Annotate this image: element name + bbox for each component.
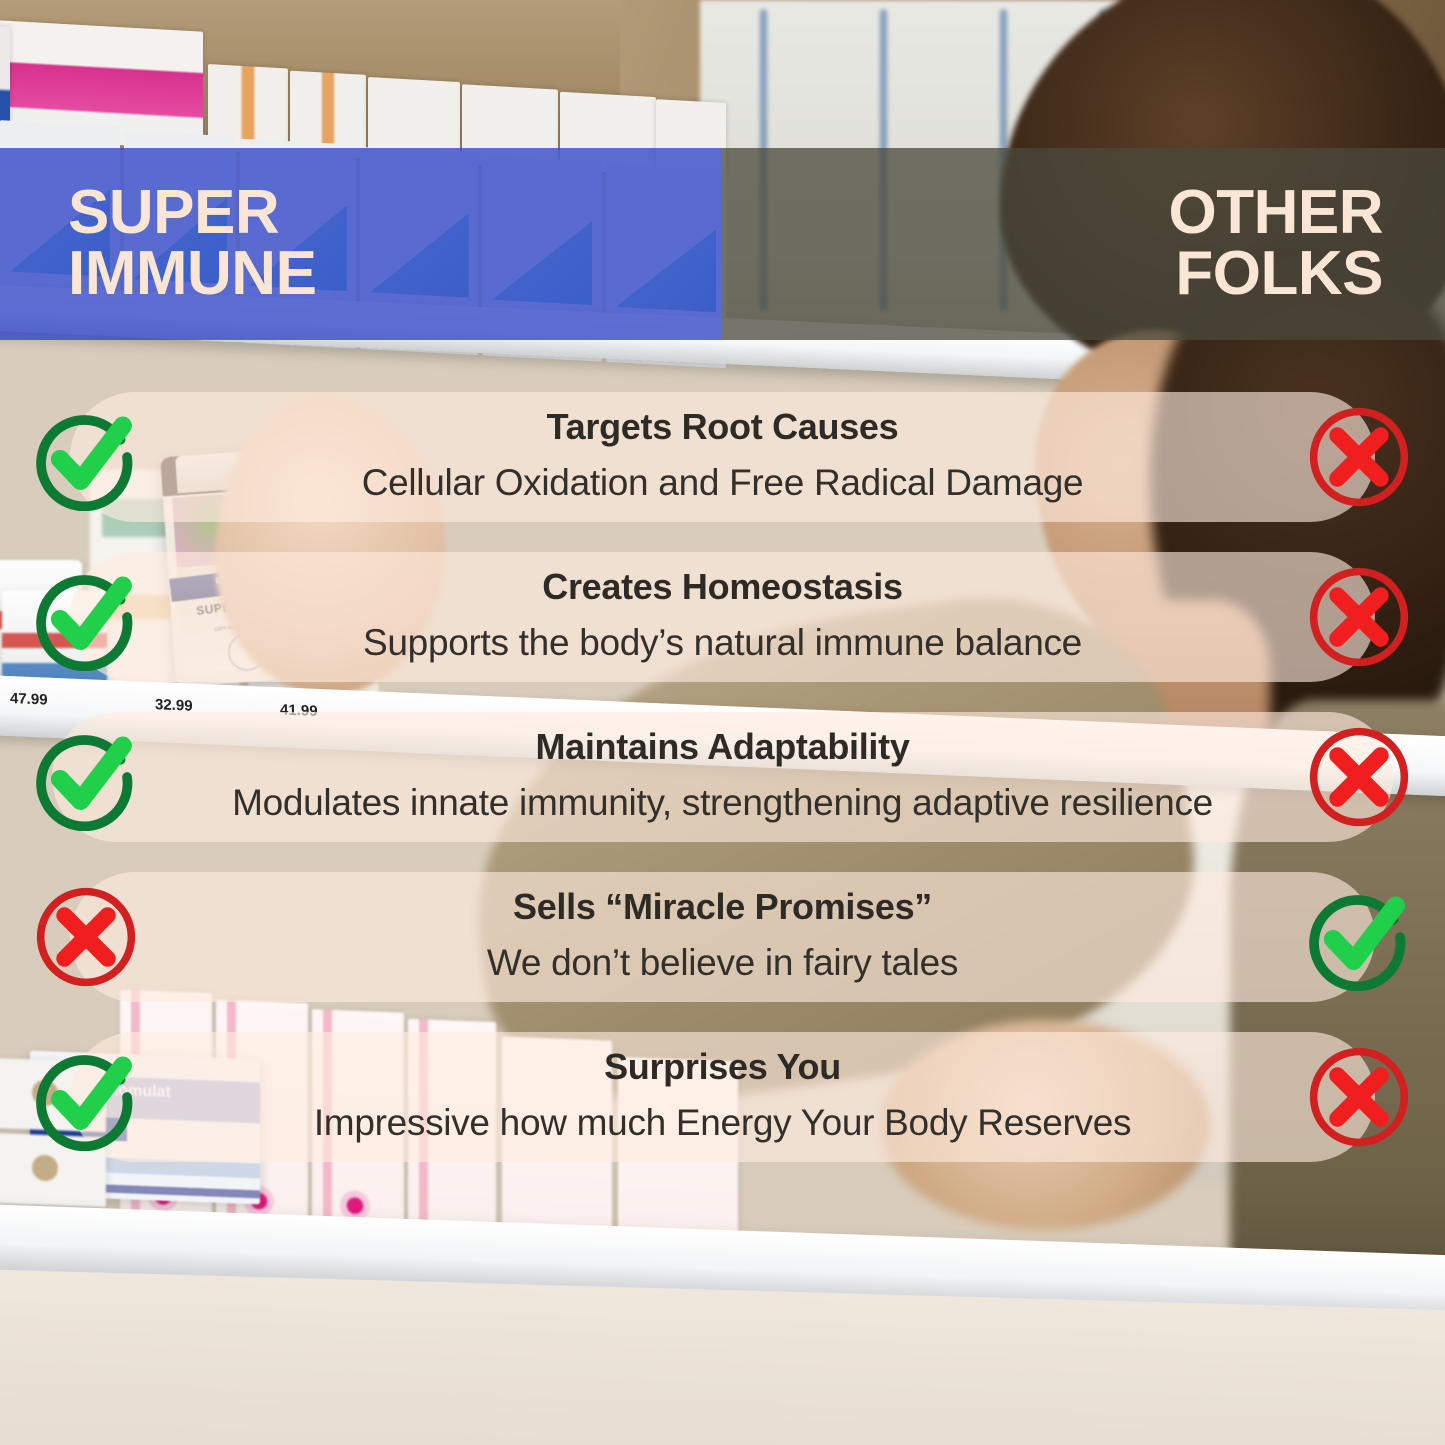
- comparison-row: Sells “Miracle Promises” We don’t believ…: [0, 860, 1445, 1014]
- header-right-line2: FOLKS: [1175, 239, 1383, 308]
- comparison-row: Surprises You Impressive how much Energy…: [0, 1020, 1445, 1174]
- row-subtext: Supports the body’s natural immune balan…: [200, 622, 1245, 664]
- row-heading: Creates Homeostasis: [200, 566, 1245, 608]
- header-right-title: OTHER FOLKS: [1169, 183, 1384, 305]
- row-subtext: Cellular Oxidation and Free Radical Dama…: [200, 462, 1245, 504]
- row-text: Creates Homeostasis Supports the body’s …: [0, 540, 1445, 694]
- header-right-line1: OTHER: [1169, 178, 1384, 247]
- cross-icon: [1305, 1043, 1413, 1151]
- cross-icon: [1305, 403, 1413, 511]
- infographic-canvas: 60 CA BIO-SHIELD SUPER IMMUNE 100% BOTAN…: [0, 0, 1445, 1445]
- row-heading: Surprises You: [200, 1046, 1245, 1088]
- header-left-line1: SUPER: [68, 178, 279, 247]
- comparison-row: Creates Homeostasis Supports the body’s …: [0, 540, 1445, 694]
- row-text: Sells “Miracle Promises” We don’t believ…: [0, 860, 1445, 1014]
- header-left-title: SUPER IMMUNE: [68, 183, 316, 305]
- header-left-panel: SUPER IMMUNE: [0, 148, 722, 340]
- row-subtext: Modulates innate immunity, strengthening…: [140, 782, 1305, 824]
- comparison-header: SUPER IMMUNE OTHER FOLKS: [0, 148, 1445, 340]
- row-heading: Maintains Adaptability: [140, 726, 1305, 768]
- comparison-rows: Targets Root Causes Cellular Oxidation a…: [0, 380, 1445, 1180]
- row-subtext: We don’t believe in fairy tales: [200, 942, 1245, 984]
- check-icon: [1305, 883, 1413, 991]
- comparison-row: Maintains Adaptability Modulates innate …: [0, 700, 1445, 854]
- row-text: Surprises You Impressive how much Energy…: [0, 1020, 1445, 1174]
- row-text: Targets Root Causes Cellular Oxidation a…: [0, 380, 1445, 534]
- comparison-row: Targets Root Causes Cellular Oxidation a…: [0, 380, 1445, 534]
- row-heading: Targets Root Causes: [200, 406, 1245, 448]
- header-right-panel: OTHER FOLKS: [722, 148, 1445, 340]
- row-text: Maintains Adaptability Modulates innate …: [0, 700, 1445, 854]
- cross-icon: [1305, 723, 1413, 831]
- header-left-line2: IMMUNE: [68, 239, 316, 308]
- row-heading: Sells “Miracle Promises”: [200, 886, 1245, 928]
- row-subtext: Impressive how much Energy Your Body Res…: [200, 1102, 1245, 1144]
- cross-icon: [1305, 563, 1413, 671]
